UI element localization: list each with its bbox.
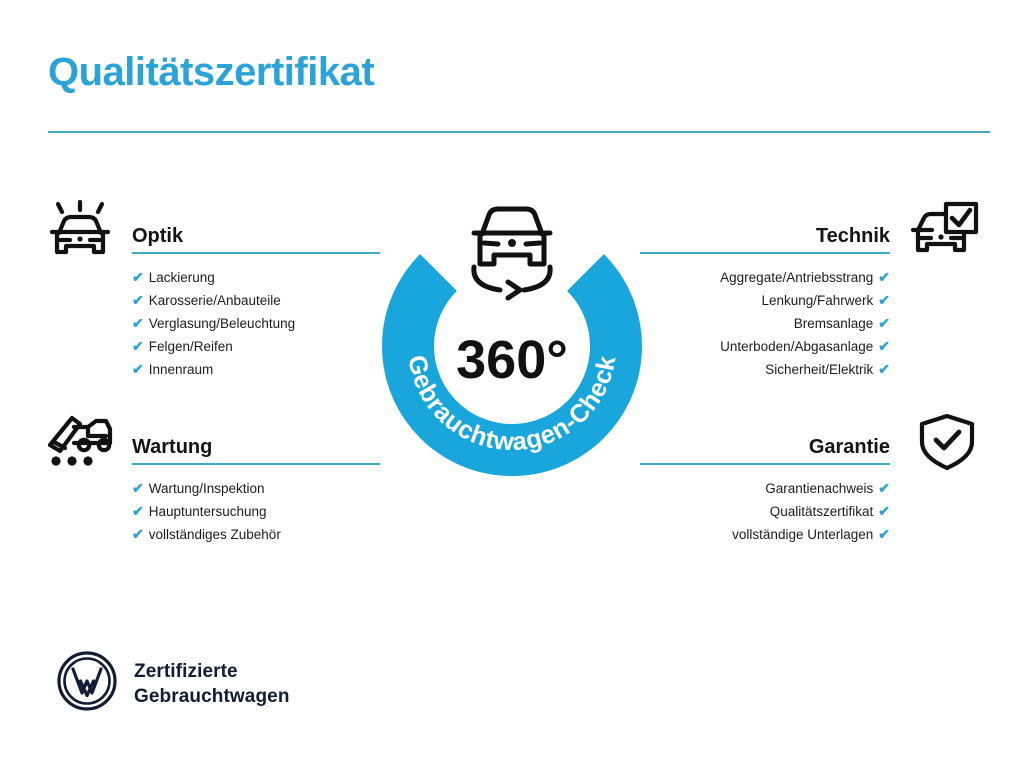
- list-item: ✔Lackierung: [132, 266, 394, 289]
- section-technik-list: Aggregate/Antriebsstrang✔ Lenkung/Fahrwe…: [630, 262, 980, 381]
- section-wartung: Wartung ✔Wartung/Inspektion ✔Hauptunters…: [44, 411, 394, 546]
- badge-center-label: 360°: [456, 330, 568, 390]
- list-item-label: Lenkung/Fahrwerk: [761, 293, 873, 308]
- check-icon: ✔: [132, 338, 144, 354]
- certificate-page: Qualitätszertifikat Optik: [0, 0, 1024, 768]
- list-item: ✔vollständiges Zubehör: [132, 523, 394, 546]
- check-icon: ✔: [132, 503, 144, 519]
- list-item-label: Qualitätszertifikat: [770, 504, 874, 519]
- section-optik-title: Optik: [132, 225, 183, 248]
- check-icon: ✔: [132, 292, 144, 308]
- list-item-label: Hauptuntersuchung: [149, 504, 267, 519]
- section-optik-header: Optik: [44, 200, 394, 262]
- list-item: Qualitätszertifikat✔: [670, 500, 890, 523]
- list-item: Bremsanlage✔: [670, 312, 890, 335]
- car-front-lights-icon: [44, 200, 116, 267]
- section-wartung-header: Wartung: [44, 411, 394, 473]
- list-item: ✔Innenraum: [132, 358, 394, 381]
- section-technik-title: Technik: [816, 225, 890, 248]
- list-item-label: Innenraum: [149, 362, 214, 377]
- section-wartung-underline: [132, 463, 380, 465]
- list-item: ✔Karosserie/Anbauteile: [132, 289, 394, 312]
- list-item: ✔Verglasung/Beleuchtung: [132, 312, 394, 335]
- check-icon: ✔: [878, 526, 890, 542]
- list-item-label: Verglasung/Beleuchtung: [149, 316, 295, 331]
- page-title: Qualitätszertifikat: [48, 50, 374, 95]
- vw-logo: [56, 650, 118, 717]
- section-optik-list: ✔Lackierung ✔Karosserie/Anbauteile ✔Verg…: [44, 262, 394, 381]
- car-checkbox-icon: [908, 200, 980, 267]
- list-item: ✔Wartung/Inspektion: [132, 477, 394, 500]
- list-item: vollständige Unterlagen✔: [670, 523, 890, 546]
- list-item-label: Bremsanlage: [794, 316, 874, 331]
- list-item: Unterboden/Abgasanlage✔: [670, 335, 890, 358]
- vw-footer-line2: Gebrauchtwagen: [134, 684, 290, 709]
- check-icon: ✔: [878, 480, 890, 496]
- vw-footer-line1: Zertifizierte: [134, 659, 290, 684]
- check-icon: ✔: [878, 338, 890, 354]
- list-item-label: Unterboden/Abgasanlage: [720, 339, 873, 354]
- section-garantie-header: Garantie: [630, 411, 980, 473]
- list-item: Sicherheit/Elektrik✔: [670, 358, 890, 381]
- section-technik: Technik Aggregate/Antriebsstrang✔ Lenkun…: [630, 200, 980, 381]
- section-technik-header: Technik: [630, 200, 980, 262]
- section-optik: Optik ✔Lackierung ✔Karosserie/Anbauteile…: [44, 200, 394, 381]
- list-item-label: Karosserie/Anbauteile: [149, 293, 281, 308]
- list-item-label: Aggregate/Antriebsstrang: [720, 270, 873, 285]
- list-item-label: vollständige Unterlagen: [732, 527, 873, 542]
- car-service-tool-icon: [44, 411, 116, 474]
- list-item: ✔Felgen/Reifen: [132, 335, 394, 358]
- section-garantie-title: Garantie: [809, 436, 890, 459]
- list-item-label: Lackierung: [149, 270, 215, 285]
- list-item: Lenkung/Fahrwerk✔: [670, 289, 890, 312]
- section-garantie-list: Garantienachweis✔ Qualitätszertifikat✔ v…: [630, 473, 980, 546]
- list-item-label: Wartung/Inspektion: [149, 481, 265, 496]
- section-wartung-title: Wartung: [132, 436, 212, 459]
- check-icon: ✔: [878, 361, 890, 377]
- list-item-label: Sicherheit/Elektrik: [765, 362, 873, 377]
- list-item: Aggregate/Antriebsstrang✔: [670, 266, 890, 289]
- list-item-label: vollständiges Zubehör: [149, 527, 281, 542]
- list-item: Garantienachweis✔: [670, 477, 890, 500]
- section-technik-underline: [640, 252, 890, 254]
- section-wartung-list: ✔Wartung/Inspektion ✔Hauptuntersuchung ✔…: [44, 473, 394, 546]
- check-icon: ✔: [132, 361, 144, 377]
- check-icon: ✔: [132, 269, 144, 285]
- check-icon: ✔: [878, 269, 890, 285]
- section-optik-underline: [132, 252, 380, 254]
- vw-footer-text: Zertifizierte Gebrauchtwagen: [134, 659, 290, 709]
- check-icon: ✔: [878, 315, 890, 331]
- title-divider: [48, 131, 990, 133]
- section-garantie: Garantie Garantienachweis✔ Qualitätszert…: [630, 411, 980, 546]
- list-item-label: Felgen/Reifen: [149, 339, 233, 354]
- section-garantie-underline: [640, 463, 890, 465]
- vw-footer: Zertifizierte Gebrauchtwagen: [56, 650, 290, 717]
- list-item: ✔Hauptuntersuchung: [132, 500, 394, 523]
- check-icon: ✔: [878, 292, 890, 308]
- 360-check-badge: 360° Gebrauchtwagen-Check: [377, 196, 647, 486]
- check-icon: ✔: [132, 526, 144, 542]
- check-icon: ✔: [878, 503, 890, 519]
- check-icon: ✔: [132, 480, 144, 496]
- check-icon: ✔: [132, 315, 144, 331]
- shield-check-icon: [914, 411, 980, 478]
- list-item-label: Garantienachweis: [765, 481, 873, 496]
- car-rotation-icon: [450, 196, 574, 306]
